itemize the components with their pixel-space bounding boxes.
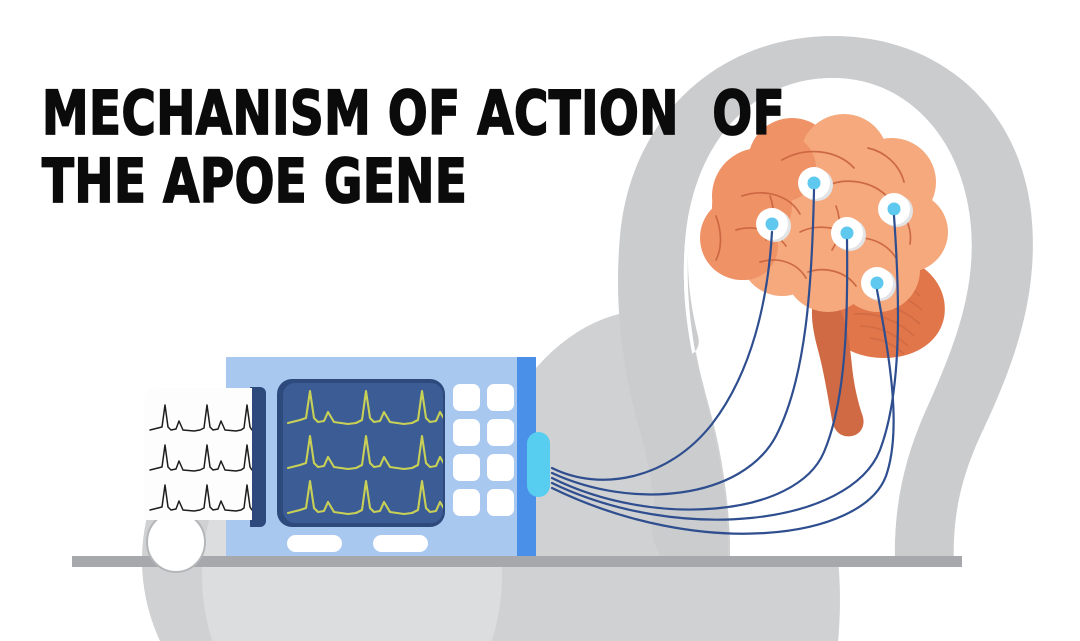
title-line-2: THE APOE GENE [42,152,591,212]
keypad-button-8[interactable] [487,489,514,516]
paper-roll [147,512,205,572]
keypad-button-7[interactable] [453,489,480,516]
keypad-button-2[interactable] [487,384,514,411]
keypad-button-4[interactable] [487,419,514,446]
page-title: MECHANISM OF ACTION OF THE APOE GENE [42,84,652,204]
floor-bar [72,556,962,567]
bottom-button-left[interactable] [287,535,342,552]
keypad-button-1[interactable] [453,384,480,411]
paper-clip [250,387,266,527]
paper-sheet [144,388,252,520]
illustration-canvas: MECHANISM OF ACTION OF THE APOE GENE [0,0,1080,641]
wire-connector-port[interactable] [527,432,550,497]
bottom-button-right[interactable] [373,535,428,552]
keypad-button-6[interactable] [487,454,514,481]
keypad-button-5[interactable] [453,454,480,481]
paper-printout [144,387,266,527]
eeg-monitor[interactable] [226,357,550,556]
title-line-1: MECHANISM OF ACTION OF [42,84,591,144]
keypad-button-3[interactable] [453,419,480,446]
